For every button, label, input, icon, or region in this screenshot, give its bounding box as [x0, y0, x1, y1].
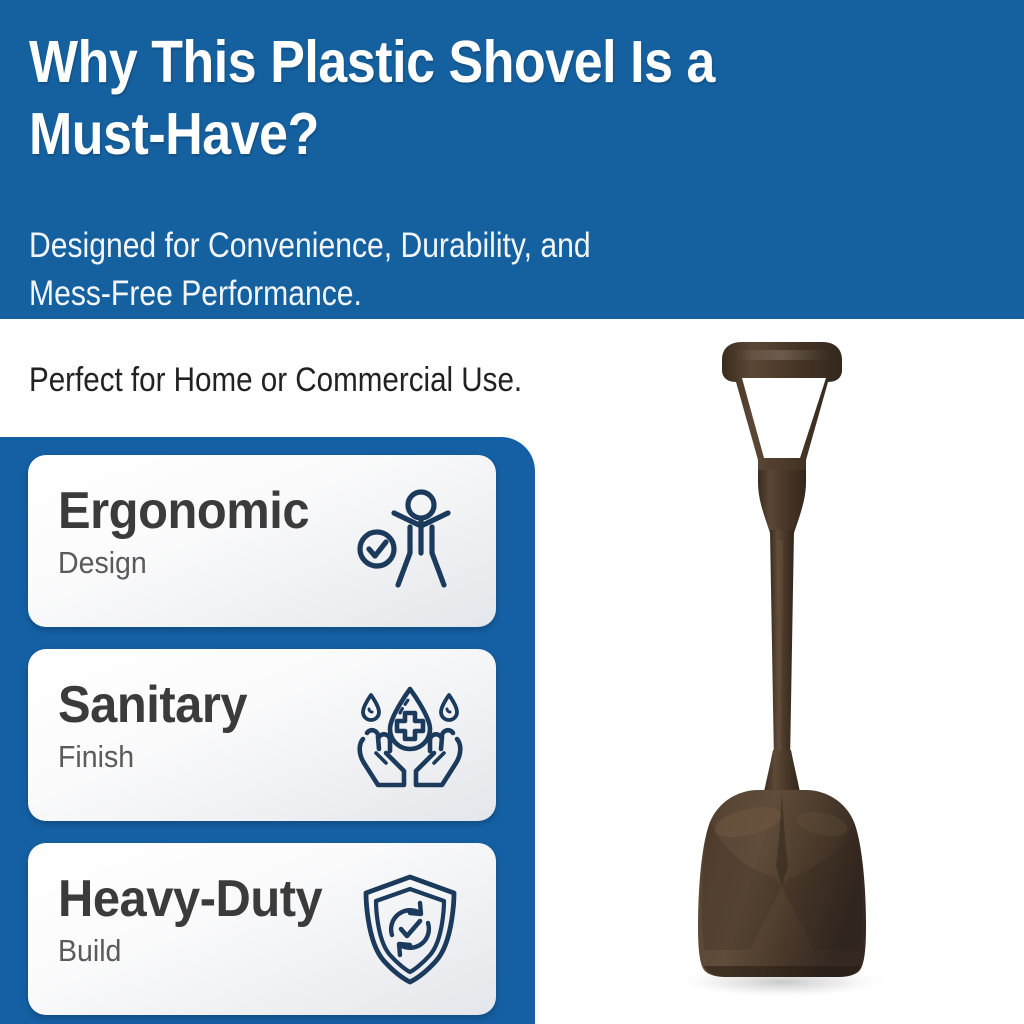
feature-card-title: Heavy-Duty: [58, 871, 322, 927]
shovel-d-grip-image: [630, 330, 930, 1010]
feature-card-subtitle: Build: [58, 931, 317, 971]
tagline: Perfect for Home or Commercial Use.: [29, 358, 522, 402]
infographic-page: Why This Plastic Shovel Is a Must-Have? …: [0, 0, 1024, 1024]
feature-card-list: Ergonomic Design: [28, 455, 496, 1024]
page-title: Why This Plastic Shovel Is a Must-Have?: [29, 26, 803, 170]
feature-card-heavy-duty[interactable]: Heavy-Duty Build: [28, 843, 496, 1015]
feature-card-title: Ergonomic: [58, 483, 309, 539]
feature-card-ergonomic[interactable]: Ergonomic Design: [28, 455, 496, 627]
hands-droplet-medical-cross-icon: [350, 675, 470, 795]
feature-card-subtitle: Design: [58, 543, 304, 583]
shield-refresh-check-icon: [350, 869, 470, 989]
feature-card-text: Heavy-Duty Build: [58, 871, 339, 971]
feature-card-text: Sanitary Finish: [58, 677, 259, 777]
accessibility-person-check-icon: [350, 481, 470, 601]
header-band: Why This Plastic Shovel Is a Must-Have? …: [0, 0, 1024, 319]
feature-card-sanitary[interactable]: Sanitary Finish: [28, 649, 496, 821]
page-subtitle: Designed for Convenience, Durability, an…: [29, 222, 683, 318]
feature-card-text: Ergonomic Design: [58, 483, 325, 583]
feature-card-subtitle: Finish: [58, 737, 243, 777]
feature-card-title: Sanitary: [58, 677, 247, 733]
